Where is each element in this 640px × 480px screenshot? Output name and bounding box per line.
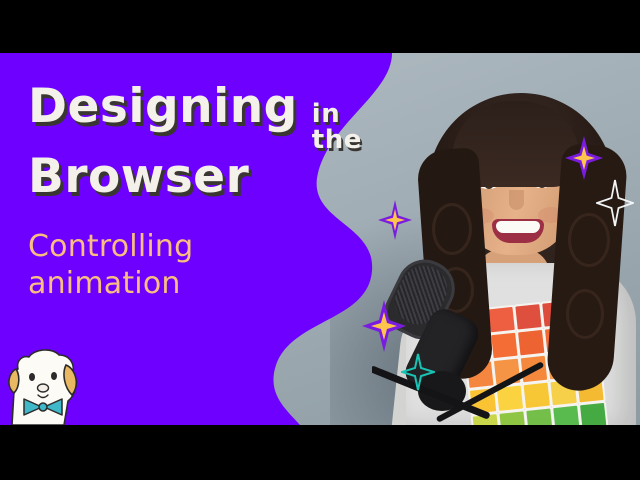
shirt-swatch-chip: [491, 333, 517, 359]
letterbox-bar-bottom: [0, 425, 640, 480]
shirt-swatch-chip: [518, 330, 544, 356]
title-tail-words: in the: [312, 101, 380, 153]
sparkle-white-outline: [596, 179, 634, 227]
title-block: Designing in the Browser Controlling ani…: [0, 53, 380, 425]
sparkle-teal-outline: [401, 353, 435, 391]
shirt-swatch-chip: [489, 307, 515, 333]
smiling-mouth: [492, 219, 544, 243]
shirt-swatch-chip: [526, 408, 552, 425]
letterbox-bar-top: [0, 0, 640, 53]
subtitle: Controlling animation: [28, 229, 193, 302]
hair-curl: [566, 289, 604, 339]
shirt-swatch-chip: [515, 304, 541, 330]
video-player-stage: Designing in the Browser Controlling ani…: [0, 0, 640, 480]
shirt-swatch-chip: [524, 382, 550, 408]
sparkle-purple-gold-top: [565, 136, 603, 180]
title-main-word: Designing: [28, 83, 298, 130]
shirt-swatch-chip: [499, 411, 525, 425]
title-line-one: Designing in the: [28, 83, 380, 153]
subtitle-line-one: Controlling: [28, 229, 193, 266]
subtitle-line-two: animation: [28, 266, 193, 303]
video-frame: Designing in the Browser Controlling ani…: [0, 53, 640, 425]
hair-curl: [432, 203, 472, 255]
nose: [509, 190, 524, 210]
sparkle-purple-gold-low: [378, 200, 412, 240]
title-line-two: Browser: [28, 153, 249, 200]
shirt-swatch-chip: [553, 405, 579, 425]
shirt-swatch-chip: [580, 403, 606, 425]
